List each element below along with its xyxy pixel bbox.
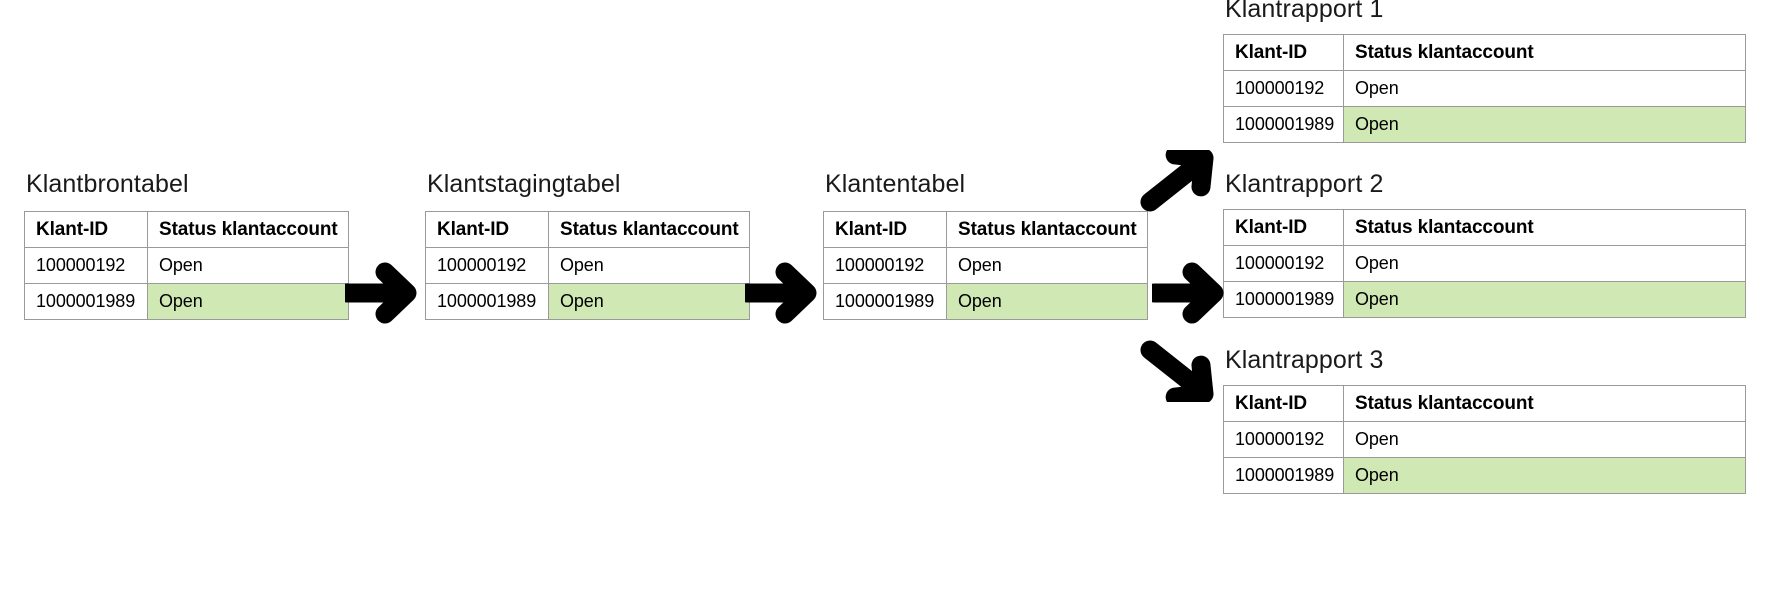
table-title-klantrapport-2: Klantrapport 2 [1223, 172, 1746, 197]
table-row: 1000001989 Open [25, 284, 349, 320]
cell-klant-id: 1000001989 [1224, 458, 1344, 494]
cell-status-highlighted: Open [1344, 282, 1746, 318]
table-row: 1000001989 Open [1224, 458, 1746, 494]
cell-status-highlighted: Open [148, 284, 349, 320]
table-header-row: Klant-ID Status klantaccount [1224, 386, 1746, 422]
table-klantrapport-2: Klant-ID Status klantaccount 100000192 O… [1223, 209, 1746, 318]
cell-klant-id: 100000192 [426, 248, 549, 284]
table-row: 100000192 Open [1224, 71, 1746, 107]
column-header-klant-id: Klant-ID [1224, 386, 1344, 422]
column-header-status: Status klantaccount [1344, 210, 1746, 246]
table-title-klantbrontabel: Klantbrontabel [24, 172, 349, 197]
table-title-klantrapport-1: Klantrapport 1 [1223, 0, 1746, 22]
cell-status-highlighted: Open [549, 284, 750, 320]
table-header-row: Klant-ID Status klantaccount [426, 212, 750, 248]
cell-status: Open [947, 248, 1148, 284]
table-row: 1000001989 Open [1224, 282, 1746, 318]
cell-klant-id: 100000192 [1224, 422, 1344, 458]
column-header-klant-id: Klant-ID [426, 212, 549, 248]
cell-klant-id: 1000001989 [1224, 107, 1344, 143]
cell-status-highlighted: Open [1344, 107, 1746, 143]
table-row: 1000001989 Open [426, 284, 750, 320]
arrow-up-right-icon [1140, 150, 1220, 212]
cell-status: Open [549, 248, 750, 284]
report-klantrapport-2: Klantrapport 2 Klant-ID Status klantacco… [1223, 172, 1746, 318]
cell-klant-id: 100000192 [1224, 246, 1344, 282]
table-row: 100000192 Open [25, 248, 349, 284]
column-header-klant-id: Klant-ID [25, 212, 148, 248]
column-header-klant-id: Klant-ID [1224, 210, 1344, 246]
table-row: 1000001989 Open [1224, 107, 1746, 143]
cell-klant-id: 1000001989 [824, 284, 947, 320]
column-header-status: Status klantaccount [1344, 35, 1746, 71]
arrow-right-icon [745, 262, 825, 324]
cell-klant-id: 100000192 [1224, 71, 1344, 107]
column-header-status: Status klantaccount [549, 212, 750, 248]
cell-status-highlighted: Open [1344, 458, 1746, 494]
cell-klant-id: 100000192 [25, 248, 148, 284]
table-header-row: Klant-ID Status klantaccount [1224, 35, 1746, 71]
arrow-right-icon [345, 262, 425, 324]
table-title-klantrapport-3: Klantrapport 3 [1223, 348, 1746, 373]
cell-klant-id: 1000001989 [1224, 282, 1344, 318]
pipeline-stage-source: Klantbrontabel Klant-ID Status klantacco… [24, 172, 349, 320]
cell-klant-id: 1000001989 [25, 284, 148, 320]
column-header-status: Status klantaccount [1344, 386, 1746, 422]
table-klantentabel: Klant-ID Status klantaccount 100000192 O… [823, 211, 1148, 320]
table-title-klantentabel: Klantentabel [823, 172, 1148, 197]
table-row: 100000192 Open [824, 248, 1148, 284]
table-klantbrontabel: Klant-ID Status klantaccount 100000192 O… [24, 211, 349, 320]
table-header-row: Klant-ID Status klantaccount [824, 212, 1148, 248]
table-klantrapport-3: Klant-ID Status klantaccount 100000192 O… [1223, 385, 1746, 494]
cell-status: Open [1344, 422, 1746, 458]
table-row: 1000001989 Open [824, 284, 1148, 320]
cell-klant-id: 1000001989 [426, 284, 549, 320]
table-row: 100000192 Open [426, 248, 750, 284]
table-header-row: Klant-ID Status klantaccount [1224, 210, 1746, 246]
report-klantrapport-3: Klantrapport 3 Klant-ID Status klantacco… [1223, 348, 1746, 494]
table-header-row: Klant-ID Status klantaccount [25, 212, 349, 248]
table-row: 100000192 Open [1224, 422, 1746, 458]
cell-status: Open [148, 248, 349, 284]
arrow-right-icon [1152, 262, 1232, 324]
arrow-down-right-icon [1140, 340, 1220, 402]
table-row: 100000192 Open [1224, 246, 1746, 282]
cell-status: Open [1344, 71, 1746, 107]
column-header-status: Status klantaccount [148, 212, 349, 248]
table-klantrapport-1: Klant-ID Status klantaccount 100000192 O… [1223, 34, 1746, 143]
cell-klant-id: 100000192 [824, 248, 947, 284]
column-header-klant-id: Klant-ID [824, 212, 947, 248]
table-title-klantstagingtabel: Klantstagingtabel [425, 172, 750, 197]
cell-status-highlighted: Open [947, 284, 1148, 320]
column-header-klant-id: Klant-ID [1224, 35, 1344, 71]
cell-status: Open [1344, 246, 1746, 282]
column-header-status: Status klantaccount [947, 212, 1148, 248]
report-klantrapport-1: Klantrapport 1 Klant-ID Status klantacco… [1223, 0, 1746, 143]
table-klantstagingtabel: Klant-ID Status klantaccount 100000192 O… [425, 211, 750, 320]
pipeline-stage-entity: Klantentabel Klant-ID Status klantaccoun… [823, 172, 1148, 320]
pipeline-stage-staging: Klantstagingtabel Klant-ID Status klanta… [425, 172, 750, 320]
